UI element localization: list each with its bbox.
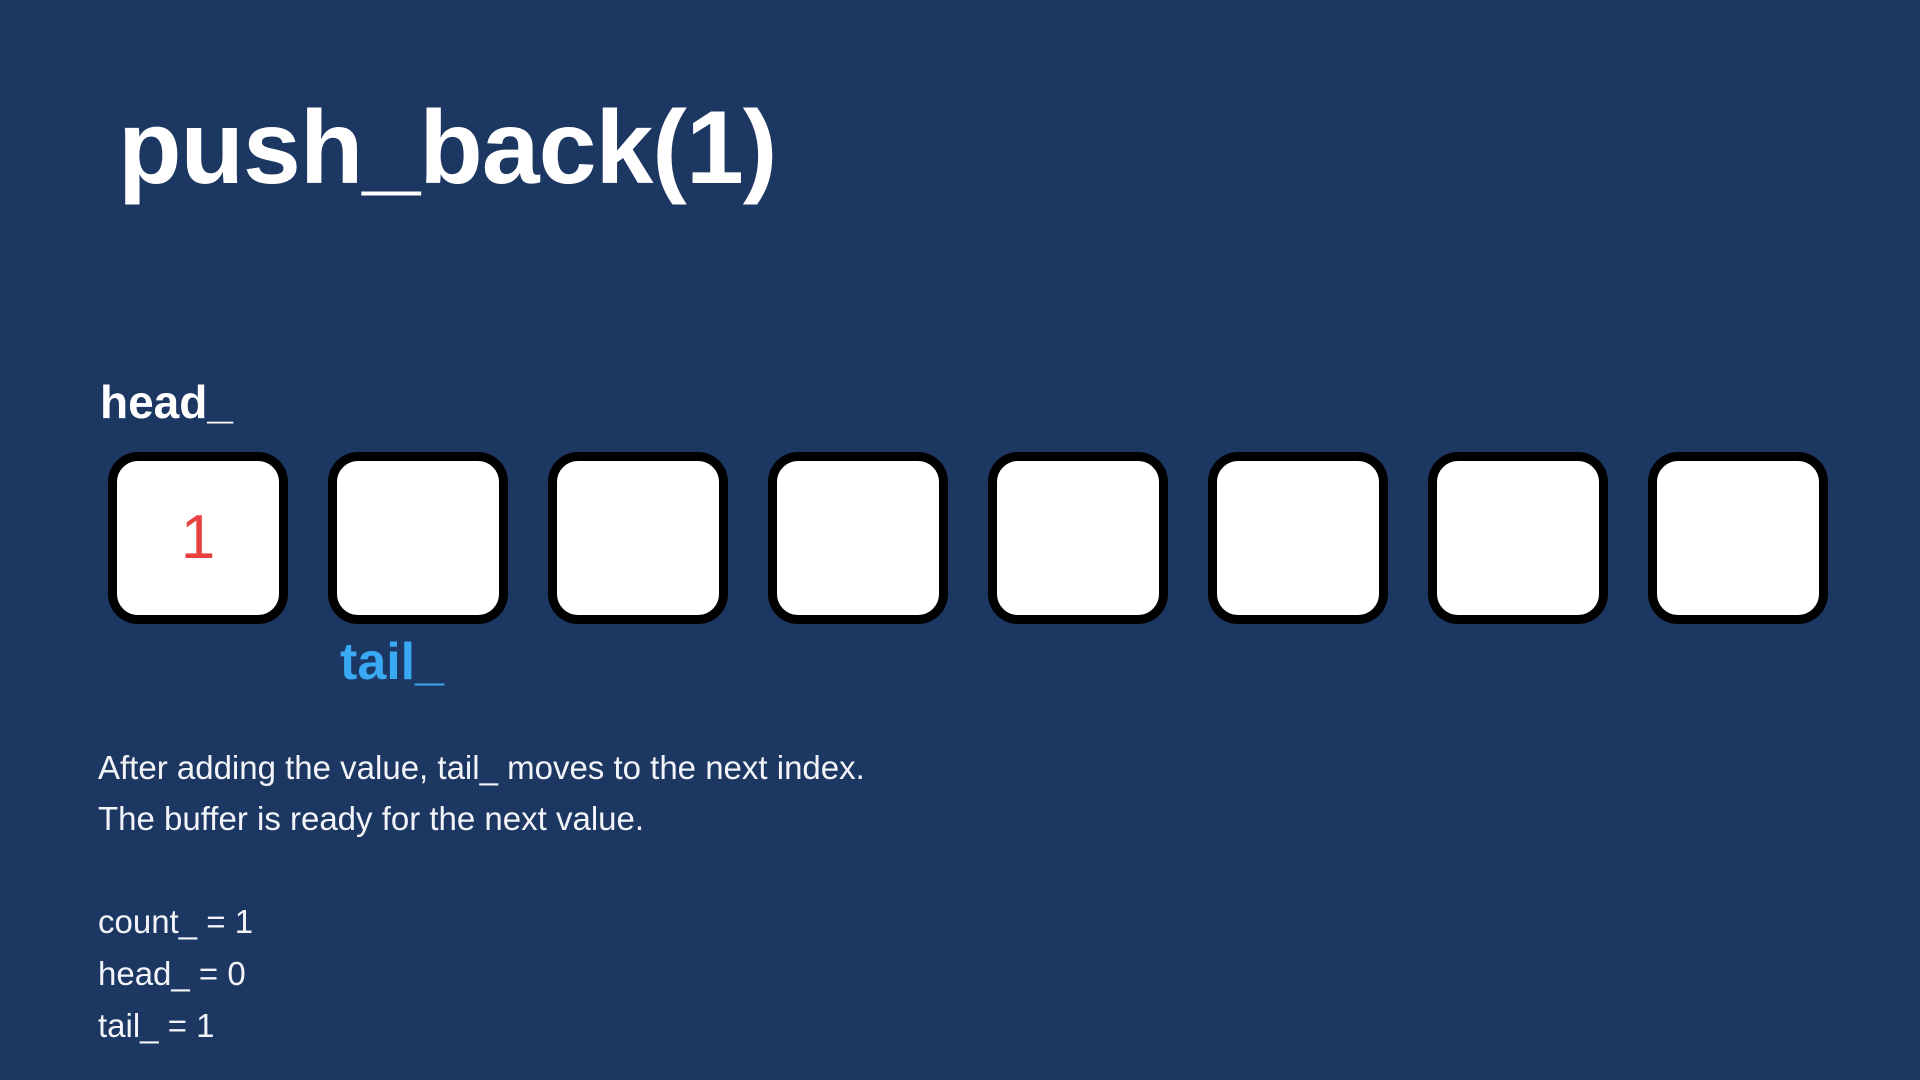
buffer-cell [1648,452,1828,624]
state-readout: count_ = 1 head_ = 0 tail_ = 1 [98,896,253,1052]
ring-buffer-cells: 1 [108,452,1828,624]
buffer-cell [328,452,508,624]
head-pointer-label: head_ [100,375,233,429]
buffer-cell [988,452,1168,624]
state-line-tail: tail_ = 1 [98,1000,253,1052]
page-title: push_back(1) [118,92,776,204]
buffer-cell [1428,452,1608,624]
tail-pointer-label: tail_ [340,632,444,692]
buffer-cell [1208,452,1388,624]
description-block: After adding the value, tail_ moves to t… [98,742,865,844]
buffer-cell-value: 1 [181,507,215,569]
description-line: The buffer is ready for the next value. [98,793,865,844]
description-line: After adding the value, tail_ moves to t… [98,742,865,793]
buffer-cell: 1 [108,452,288,624]
state-line-count: count_ = 1 [98,896,253,948]
buffer-cell [548,452,728,624]
slide-canvas: push_back(1) head_ 1 tail_ After adding … [0,0,1920,1080]
state-line-head: head_ = 0 [98,948,253,1000]
buffer-cell [768,452,948,624]
